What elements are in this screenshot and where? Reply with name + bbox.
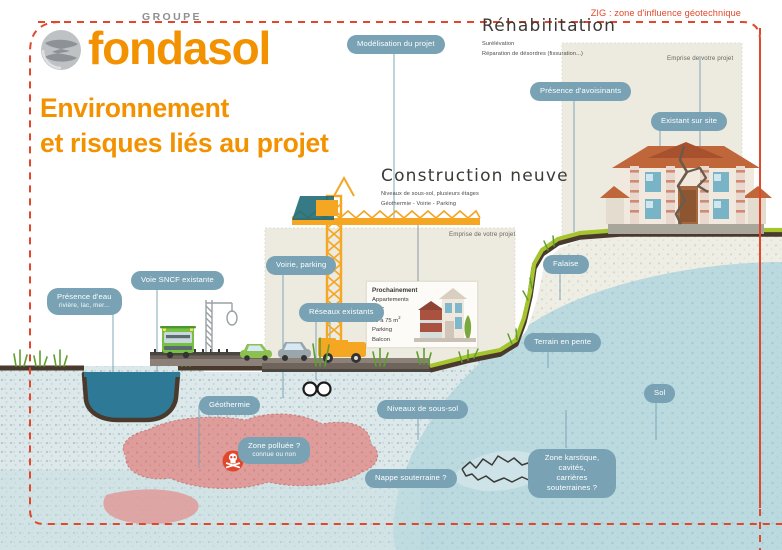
pill-modelisation-du-projet[interactable]: Modélisation du projet — [347, 35, 445, 54]
pill-voirie-parking[interactable]: Voirie, parking — [266, 256, 336, 275]
section-rehabilitation-heading: Réhabilitation — [482, 16, 616, 36]
neuve-sub-line2: Géothermie - Voirie - Parking — [381, 200, 569, 210]
pill-niveaux-sous-sol[interactable]: Niveaux de sous-sol — [377, 400, 468, 419]
river — [84, 372, 180, 420]
caption-emprise-left: Emprise de votre projet — [449, 231, 515, 238]
section-construction-subtitle: Niveaux de sous-sol, plusieurs étages Gé… — [381, 190, 569, 210]
rehab-sub-line1: Surélévation — [482, 40, 616, 50]
pill-zone-karstique-line2: carrières souterraines ? — [538, 473, 606, 493]
pill-zone-polluee-sub: connue ou non — [248, 451, 300, 459]
logo-groupe-text: GROUPE — [142, 12, 202, 23]
pill-reseaux-existants[interactable]: Réseaux existants — [299, 303, 384, 322]
pill-presence-eau-sub: rivière, lac, mer... — [57, 302, 112, 310]
pill-presence-avoisinants[interactable]: Présence d'avoisinants — [530, 82, 631, 101]
pill-zone-karstique[interactable]: Zone karstique, cavités, carrières soute… — [528, 449, 616, 498]
pill-geothermie[interactable]: Géothermie — [199, 396, 260, 415]
page-title-line2: et risques liés au projet — [40, 126, 460, 161]
logo-wordmark: fondasol — [88, 25, 270, 71]
pill-falaise[interactable]: Falaise — [543, 255, 589, 274]
billboard-line-0: Appartements — [372, 297, 409, 303]
pill-nappe-souterraine[interactable]: Nappe souterraine ? — [365, 469, 457, 488]
pill-zone-karstique-line1: Zone karstique, cavités, — [545, 453, 600, 472]
section-rehabilitation-subtitle: Surélévation Réparation de désordres (fi… — [482, 40, 616, 60]
infographic-canvas: GROUPE fondasol Environnement et risques… — [0, 0, 782, 550]
billboard-house-illustration — [414, 283, 476, 343]
pill-sol[interactable]: Sol — [644, 384, 675, 403]
pill-existant-sur-site[interactable]: Existant sur site — [651, 112, 727, 131]
billboard-line-3: Parking — [372, 327, 392, 333]
road — [262, 358, 432, 372]
fondasol-logo-icon — [40, 29, 82, 71]
pill-terrain-en-pente[interactable]: Terrain en pente — [524, 333, 601, 352]
pill-voie-sncf[interactable]: Voie SNCF existante — [131, 271, 224, 290]
pill-zone-polluee-label: Zone polluée ? — [248, 441, 300, 450]
caption-emprise-right: Emprise de votre projet — [667, 55, 733, 62]
billboard-area-exponent: 2 — [398, 315, 400, 320]
section-construction-neuve: Construction neuve Niveaux de sous-sol, … — [381, 166, 569, 210]
rehab-sub-line2: Réparation de désordres (fissuration...) — [482, 50, 616, 60]
pill-presence-eau-label: Présence d'eau — [57, 292, 112, 301]
billboard-line-4: Balcon — [372, 337, 390, 343]
page-title: Environnement et risques liés au projet — [40, 91, 460, 161]
pill-zone-polluee[interactable]: Zone polluée ? connue ou non — [238, 437, 310, 464]
page-title-line1: Environnement — [40, 93, 229, 123]
neuve-sub-line1: Niveaux de sous-sol, plusieurs étages — [381, 190, 569, 200]
billboard-title: Prochainement — [372, 287, 418, 294]
section-rehabilitation: Réhabilitation Surélévation Réparation d… — [482, 16, 616, 60]
section-construction-heading: Construction neuve — [381, 166, 569, 186]
pill-presence-eau[interactable]: Présence d'eau rivière, lac, mer... — [47, 288, 122, 315]
